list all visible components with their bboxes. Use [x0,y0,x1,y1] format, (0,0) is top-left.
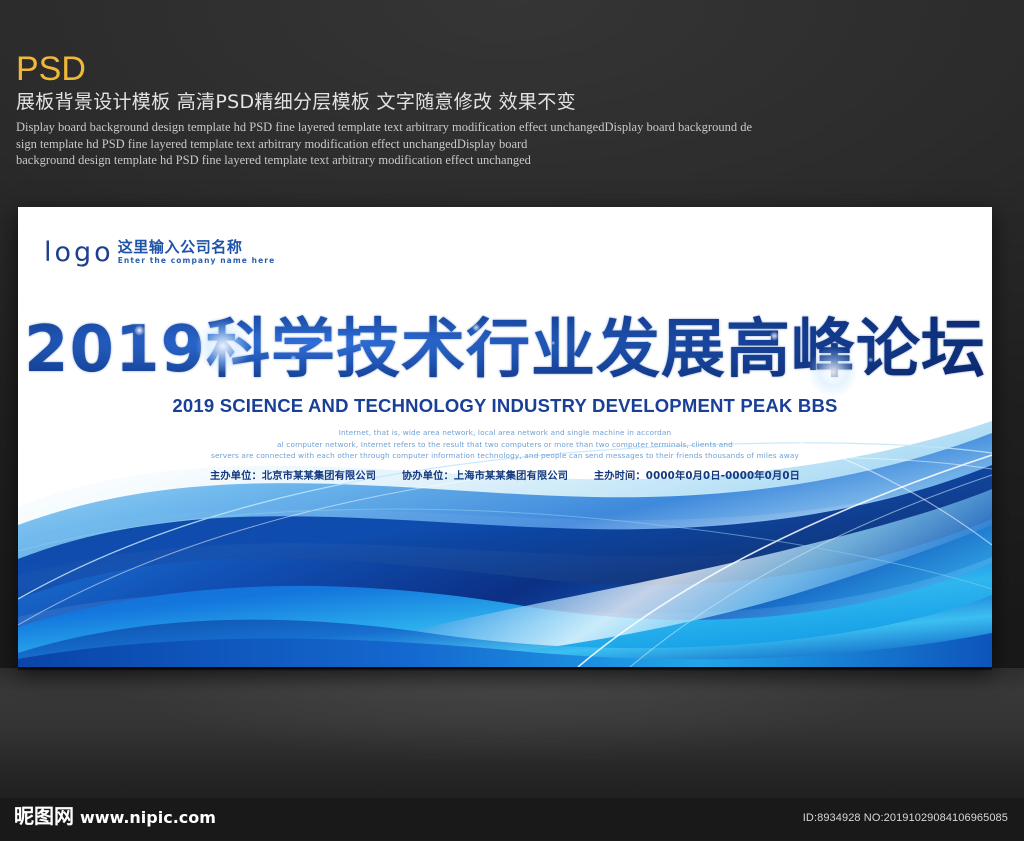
header-english-line-2: sign template hd PSD fine layered templa… [16,136,991,153]
footer-site-name-cn: 昵图网 [14,805,74,827]
logo-company-block: 这里输入公司名称 Enter the company name here [118,239,276,266]
footer-site-url: www.nipic.com [80,809,216,827]
header-english-line-1: Display board background design template… [16,119,991,136]
poster-paragraph-line-3: servers are connected with each other th… [18,450,992,462]
organizer-cohost: 协办单位：上海市某某集团有限公司 [402,471,568,482]
psd-label: PSD [16,52,1016,86]
poster-title-container: 2019科学技术行业发展高峰论坛 [18,315,992,385]
header-block: PSD 展板背景设计模板 高清PSD精细分层模板 文字随意修改 效果不变 Dis… [16,52,1016,169]
poster-base-shadow [18,668,992,671]
floor-light-glow [0,668,1024,798]
poster-mockup-stage: PSD 展板背景设计模板 高清PSD精细分层模板 文字随意修改 效果不变 Dis… [0,0,1024,841]
header-english-description: Display board background design template… [16,119,991,169]
footer-id-text: ID:8934928 NO:20191029084106965085 [803,811,1008,825]
poster-main-title: 2019科学技术行业发展高峰论坛 [24,315,986,385]
display-board-poster: logo 这里输入公司名称 Enter the company name her… [18,207,992,667]
poster-organizer-row: 主办单位：北京市某某集团有限公司 协办单位：上海市某某集团有限公司 主办时间：0… [18,470,992,484]
logo-company-name-en: Enter the company name here [118,256,276,266]
organizer-host: 主办单位：北京市某某集团有限公司 [210,471,376,482]
logo-wordmark: logo [44,239,114,266]
organizer-time: 主办时间：0000年0月0日-0000年0月0日 [594,471,800,482]
poster-subtitle-english: 2019 SCIENCE AND TECHNOLOGY INDUSTRY DEV… [18,395,992,417]
logo-company-name-cn: 这里输入公司名称 [118,239,276,255]
poster-logo[interactable]: logo 这里输入公司名称 Enter the company name her… [44,239,275,266]
footer-brand[interactable]: 昵图网 www.nipic.com [14,805,216,827]
header-english-line-3: background design template hd PSD fine l… [16,152,991,169]
poster-paragraph-line-1: Internet, that is, wide area network, lo… [18,427,992,439]
poster-paragraph-line-2: al computer network, Internet refers to … [18,439,992,451]
header-chinese-tagline: 展板背景设计模板 高清PSD精细分层模板 文字随意修改 效果不变 [16,90,1016,114]
poster-paragraph: Internet, that is, wide area network, lo… [18,427,992,462]
